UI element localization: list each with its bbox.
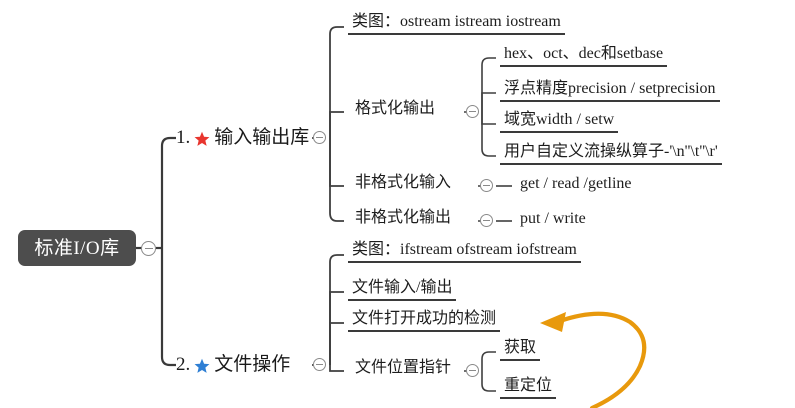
unformatted-input-collapse-toggle[interactable] [480, 179, 493, 192]
branch2-child2-connector [330, 292, 344, 365]
branch1-child4-connector [330, 138, 344, 221]
connector-layer [0, 0, 795, 408]
orange-curved-arrow [560, 314, 644, 408]
root-node[interactable]: 标准I/O库 [18, 230, 136, 266]
node-class-diagram-fstream[interactable]: 类图：ifstream ofstream iofstream [348, 242, 581, 263]
branch1-child1-connector [330, 27, 344, 138]
blue-star-icon [194, 358, 210, 374]
fmt-child3-connector [482, 112, 496, 124]
branch2-child1-connector [330, 255, 344, 365]
branch1-collapse-toggle[interactable] [313, 131, 326, 144]
node-get-position[interactable]: 获取 [500, 340, 540, 361]
node-custom-manipulator[interactable]: 用户自定义流操纵算子-'\n''\t''\r' [500, 144, 722, 165]
node-put-write[interactable]: put / write [516, 211, 590, 230]
fileptr-child1-connector [482, 352, 496, 371]
root-label: 标准I/O库 [34, 239, 119, 258]
node-unformatted-output[interactable]: 非格式化输出 [352, 210, 454, 229]
branch2-child4-connector [330, 365, 344, 371]
fileptr-child2-connector [482, 371, 496, 391]
mindmap-canvas: 标准I/O库 1. 输入输出库 类图：ostream istream iostr… [0, 0, 795, 408]
branch-title-input-output[interactable]: 1. 输入输出库 [176, 128, 309, 147]
root-to-branch1-connector [162, 138, 176, 248]
root-collapse-toggle[interactable] [141, 241, 156, 256]
branch1-label: 输入输出库 [214, 128, 309, 147]
fmt-child2-connector [482, 93, 496, 112]
fmt-child1-connector [482, 58, 496, 112]
orange-arrow-head [540, 312, 566, 332]
branch-title-file-operations[interactable]: 2. 文件操作 [176, 355, 290, 374]
node-hex-oct-dec-setbase[interactable]: hex、oct、dec和setbase [500, 46, 667, 67]
branch1-child3-connector [330, 138, 344, 186]
node-file-open-check[interactable]: 文件打开成功的检测 [348, 311, 500, 332]
node-file-input-output[interactable]: 文件输入/输出 [348, 280, 456, 301]
node-precision-setprecision[interactable]: 浮点精度precision / setprecision [500, 81, 720, 102]
fmt-child4-connector [482, 112, 496, 156]
node-class-diagram-ostream[interactable]: 类图：ostream istream iostream [348, 14, 565, 35]
file-position-collapse-toggle[interactable] [466, 364, 479, 377]
node-unformatted-input[interactable]: 非格式化输入 [352, 175, 454, 194]
node-get-read-getline[interactable]: get / read /getline [516, 176, 636, 195]
node-file-position-pointer[interactable]: 文件位置指针 [352, 360, 454, 379]
branch2-collapse-toggle[interactable] [313, 358, 326, 371]
node-formatted-output[interactable]: 格式化输出 [352, 101, 438, 120]
node-reposition[interactable]: 重定位 [500, 378, 556, 399]
branch2-child3-connector [330, 323, 344, 365]
root-to-branch2-connector [162, 248, 176, 365]
branch2-index: 2. [176, 355, 190, 374]
formatted-output-collapse-toggle[interactable] [466, 105, 479, 118]
red-star-icon [194, 131, 210, 147]
branch1-index: 1. [176, 128, 190, 147]
branch1-child2-connector [330, 112, 344, 138]
node-width-setw[interactable]: 域宽width / setw [500, 112, 618, 133]
branch2-label: 文件操作 [214, 355, 290, 374]
unformatted-output-collapse-toggle[interactable] [480, 214, 493, 227]
